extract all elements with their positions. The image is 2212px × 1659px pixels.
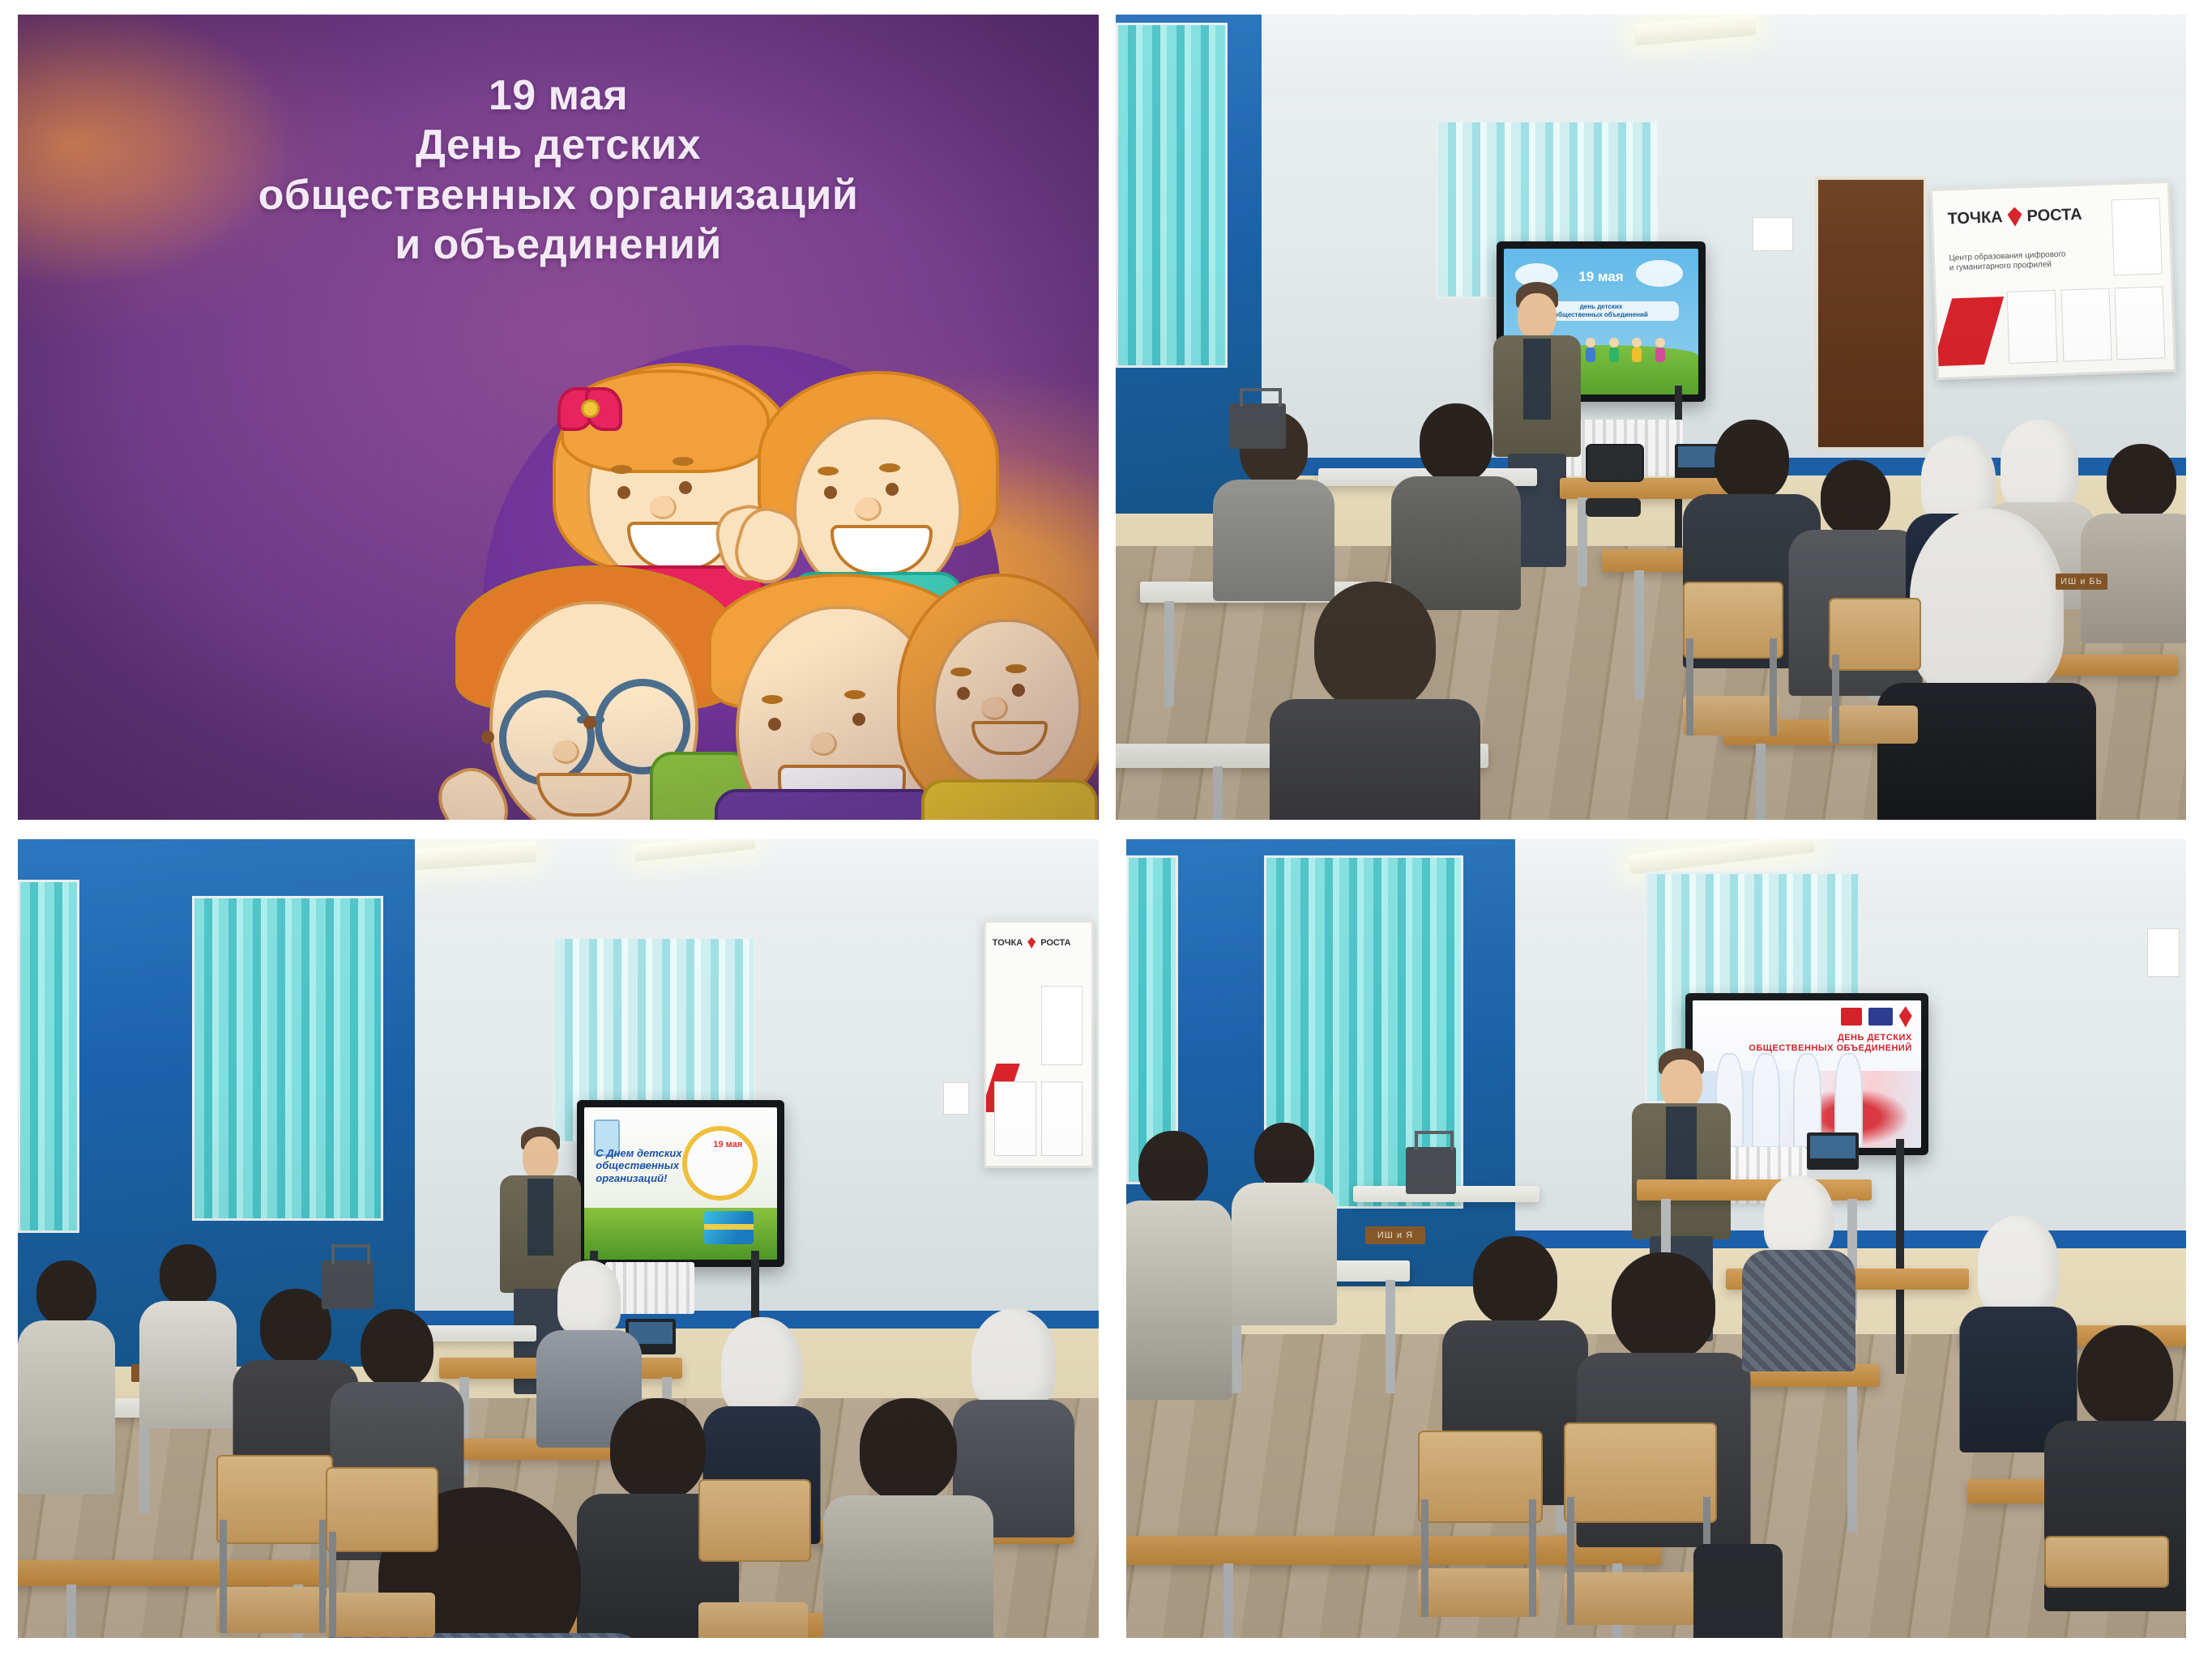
chair-label: ИШ и БЬ — [2056, 574, 2107, 590]
3d-printer — [1229, 403, 1286, 449]
student-torso — [1126, 1201, 1232, 1400]
teacher-head — [1660, 1060, 1702, 1110]
classroom-scene: ТОЧКА РОСТА 19 мая — [18, 839, 1099, 1638]
backpack — [1693, 1544, 1783, 1638]
desk-leg — [1164, 601, 1174, 706]
poster-title: ТОЧКА РОСТА — [1947, 205, 2082, 229]
chair-frame — [1770, 638, 1777, 736]
poster-title-line3: общественных организаций — [18, 171, 1099, 220]
desk-leg — [1634, 570, 1644, 700]
teacher-head — [1518, 293, 1557, 340]
chair-seat — [1829, 706, 1918, 744]
classroom-photo-3-panel: ДЕНЬ ДЕТСКИХ ОБЩЕСТВЕННЫХ ОБЪЕДИНЕНИЙ — [1126, 839, 2186, 1638]
slide-child-figure — [1586, 338, 1595, 362]
photo-collage: 19 мая День детских общественных организ… — [0, 0, 2212, 1659]
student-head — [36, 1260, 96, 1325]
desk-leg — [1223, 1563, 1233, 1638]
student-chair — [1829, 598, 1918, 744]
teacher-shirt — [527, 1179, 553, 1256]
student — [1391, 403, 1521, 606]
slide-line3: организаций! — [596, 1172, 681, 1184]
chair-frame — [329, 1532, 336, 1637]
student-chair — [698, 1479, 808, 1638]
chair-seat — [1683, 696, 1780, 736]
desk-leg — [66, 1584, 76, 1638]
chair-frame — [1686, 638, 1693, 736]
desk-leg — [1847, 1387, 1857, 1533]
wall-notice — [943, 1082, 969, 1115]
student-head — [1420, 403, 1492, 483]
desk-leg — [1386, 1280, 1395, 1393]
slide-line1: С Днем детских — [596, 1147, 681, 1159]
classroom-photo-1-panel: ТОЧКА РОСТА Центр образования цифрового … — [1116, 15, 2186, 820]
slide-greeting-card: 19 мая С Днем детских общественных орган… — [584, 1107, 777, 1260]
slide-medal-label: 19 мая — [713, 1141, 742, 1150]
chair-frame — [1567, 1497, 1574, 1625]
chair-label: ИШ и Я — [1365, 1226, 1425, 1244]
3d-printer — [1406, 1147, 1456, 1194]
movement-flame-icon — [1899, 1006, 1912, 1027]
student-chair — [1418, 1431, 1539, 1617]
office-chair — [1586, 444, 1641, 517]
student-head — [1612, 1252, 1715, 1361]
window-blind-left — [1116, 23, 1228, 368]
student-head — [361, 1309, 433, 1388]
desk-leg — [139, 1416, 149, 1513]
student-head — [860, 1398, 957, 1502]
slide-line2: общественных — [596, 1159, 681, 1171]
chair-frame — [220, 1520, 227, 1633]
chair-frame — [1421, 1499, 1428, 1617]
presentation-screen: 19 мая С Днем детских общественных орган… — [577, 1100, 784, 1267]
poster-title-left: ТОЧКА — [1947, 208, 2003, 228]
classroom-photo-2-panel: ТОЧКА РОСТА 19 мая — [18, 839, 1099, 1638]
chair-label-text: ИШ и БЬ — [2060, 577, 2103, 586]
student-hijab — [2001, 420, 2078, 510]
student — [18, 1260, 115, 1495]
poster-title: ТОЧКА РОСТА — [993, 937, 1071, 949]
chevron-icon — [1027, 937, 1036, 949]
chair-back — [1418, 1431, 1543, 1523]
student — [1270, 582, 1480, 820]
poster-title: 19 мая День детских общественных организ… — [18, 71, 1099, 270]
student-torso — [1270, 699, 1480, 820]
chair-back — [1829, 598, 1921, 671]
desk-leg — [1756, 744, 1766, 820]
student-head — [1715, 420, 1789, 501]
poster-title-line1: 19 мая — [18, 71, 1099, 121]
slide-badge-text: 19 мая — [713, 1140, 742, 1149]
logo-icon — [1868, 1008, 1893, 1026]
student-torso — [18, 1320, 115, 1495]
chair-label-text: ИШ и Я — [1377, 1230, 1413, 1240]
poster-card — [2060, 288, 2112, 361]
poster-card — [2112, 198, 2163, 276]
wall-notice — [1753, 217, 1793, 251]
student-torso — [1232, 1183, 1337, 1325]
poster-card — [1041, 1081, 1083, 1156]
logo-icon — [1841, 1008, 1862, 1026]
chair-back — [698, 1479, 811, 1562]
laptop — [1807, 1132, 1859, 1170]
slide-child-figure — [1632, 338, 1642, 362]
student — [1126, 1131, 1232, 1398]
chair-back — [1564, 1422, 1717, 1523]
poster-diamond-icon — [1932, 297, 2004, 367]
chair-frame — [1529, 1499, 1536, 1617]
chair-back — [1683, 582, 1783, 659]
chair-back — [1586, 444, 1644, 482]
student — [1232, 1123, 1337, 1325]
chair-frame — [1832, 655, 1839, 744]
slide-title: ДЕНЬ ДЕТСКИХ ОБЩЕСТВЕННЫХ ОБЪЕДИНЕНИЙ — [1749, 1033, 1911, 1053]
3d-printer — [322, 1260, 374, 1309]
tochka-rosta-poster: ТОЧКА РОСТА — [984, 920, 1094, 1168]
student-head — [610, 1398, 706, 1500]
student — [2081, 444, 2186, 638]
slide-child-figure — [1655, 338, 1665, 362]
student-chair — [2044, 1536, 2166, 1638]
student-head — [260, 1289, 331, 1365]
student-head — [1314, 582, 1436, 711]
poster-title-line4: и объединений — [18, 220, 1099, 270]
tv-stand-pole — [1896, 1139, 1904, 1374]
classroom-door — [1815, 177, 1927, 450]
poster-subtitle: Центр образования цифрового и гуманитарн… — [1949, 250, 2066, 274]
student — [823, 1398, 993, 1638]
student-chair — [216, 1455, 330, 1633]
student — [139, 1244, 237, 1431]
student-head — [1473, 1236, 1557, 1325]
student-head — [2107, 444, 2176, 518]
poster-card — [994, 1081, 1036, 1156]
poster-card — [2115, 286, 2166, 360]
chair-back — [216, 1455, 333, 1544]
student-hijab — [971, 1309, 1056, 1408]
student-chair — [1564, 1422, 1714, 1625]
slide-child-figure — [1609, 338, 1619, 362]
student-torso — [139, 1301, 237, 1429]
poster-title-line2: День детских — [18, 121, 1099, 170]
student-torso — [823, 1495, 993, 1638]
chair-seat — [216, 1587, 330, 1633]
student-head — [2077, 1325, 2173, 1427]
teacher-head — [523, 1137, 558, 1180]
chevron-icon — [2007, 207, 2022, 227]
teacher-shirt — [1523, 339, 1551, 420]
slide-gift-box — [704, 1211, 754, 1244]
slide-medal — [682, 1126, 758, 1201]
slide-greeting-text: С Днем детских общественных организаций! — [596, 1147, 681, 1184]
student-hijab — [557, 1260, 621, 1335]
chair-seat — [698, 1602, 808, 1638]
student-head — [1138, 1131, 1208, 1205]
chair-back — [2044, 1536, 2169, 1588]
poster-card — [2006, 290, 2057, 364]
chair-seat — [326, 1593, 435, 1637]
student-hijab — [1910, 509, 2064, 695]
student-head — [1254, 1123, 1314, 1188]
chair-back — [326, 1467, 438, 1552]
student-chair — [326, 1467, 435, 1637]
desk-leg — [1213, 766, 1223, 820]
slide-child-figure — [1752, 1053, 1780, 1148]
window-blind-left — [18, 880, 79, 1233]
poster-title-left: ТОЧКА — [993, 938, 1023, 948]
chair-seat — [1564, 1572, 1714, 1625]
poster-slide-panel: 19 мая День детских общественных организ… — [18, 15, 1099, 820]
student-head — [160, 1244, 216, 1306]
chair-seat — [1586, 498, 1641, 517]
student — [1742, 1175, 1855, 1370]
slide-line1: ДЕНЬ ДЕТСКИХ — [1749, 1033, 1911, 1043]
slide-logos — [1841, 1006, 1912, 1027]
poster-title-right: РОСТА — [2026, 205, 2082, 225]
student-chair — [1683, 582, 1780, 736]
chair-seat — [1418, 1568, 1539, 1617]
tochka-rosta-poster: ТОЧКА РОСТА Центр образования цифрового … — [1930, 181, 2176, 380]
student-hijab — [1978, 1216, 2059, 1315]
poster-title-right: РОСТА — [1040, 938, 1070, 948]
classroom-scene: ТОЧКА РОСТА Центр образования цифрового … — [1116, 15, 2186, 820]
student-torso — [1742, 1250, 1855, 1371]
classroom-scene: ДЕНЬ ДЕТСКИХ ОБЩЕСТВЕННЫХ ОБЪЕДИНЕНИЙ — [1126, 839, 2186, 1638]
window-blind-center — [192, 896, 383, 1221]
slide-line2: ОБЩЕСТВЕННЫХ ОБЪЕДИНЕНИЙ — [1749, 1043, 1911, 1054]
screen-content: 19 мая С Днем детских общественных орган… — [584, 1107, 777, 1260]
poster-card — [1041, 986, 1083, 1065]
student-hijab — [1764, 1175, 1834, 1256]
wall-notice — [2147, 928, 2180, 977]
